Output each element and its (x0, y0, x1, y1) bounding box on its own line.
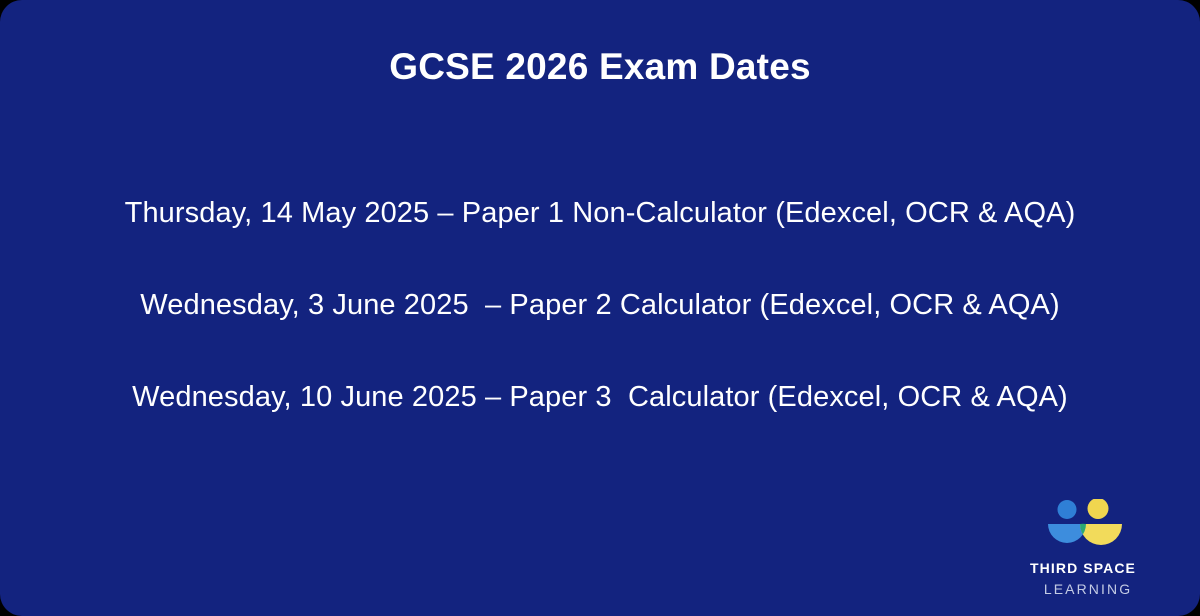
page-title: GCSE 2026 Exam Dates (0, 46, 1200, 89)
third-space-learning-logo-mark (1041, 499, 1125, 551)
logo-right-body-icon (1080, 524, 1122, 545)
logo-mark-svg (1041, 499, 1125, 551)
logo-wordmark-primary: THIRD SPACE (1030, 560, 1136, 578)
logo-right-head-icon (1088, 499, 1109, 519)
brand-logo: THIRD SPACE LEARNING (1008, 499, 1158, 598)
exam-date-line: Wednesday, 3 June 2025 – Paper 2 Calcula… (0, 288, 1200, 323)
logo-left-head-icon (1058, 500, 1077, 519)
logo-wordmark-secondary: LEARNING (1034, 580, 1132, 598)
exam-date-line: Wednesday, 10 June 2025 – Paper 3 Calcul… (0, 380, 1200, 415)
exam-date-line: Thursday, 14 May 2025 – Paper 1 Non-Calc… (0, 196, 1200, 231)
exam-dates-list: Thursday, 14 May 2025 – Paper 1 Non-Calc… (0, 196, 1200, 414)
exam-dates-card: GCSE 2026 Exam Dates Thursday, 14 May 20… (0, 0, 1200, 616)
